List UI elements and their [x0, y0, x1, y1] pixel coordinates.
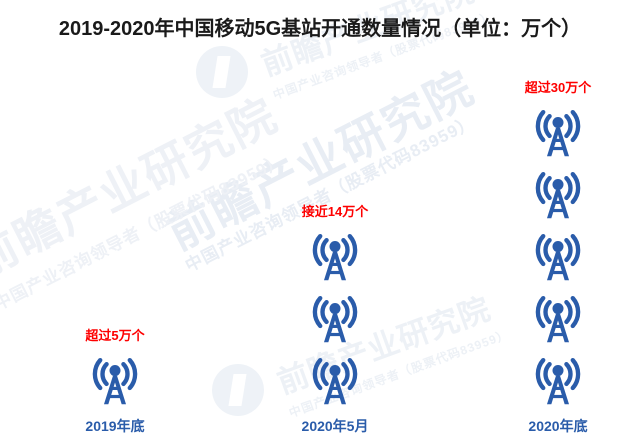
- cell-tower-icon: [306, 290, 364, 348]
- value-label-2020-end: 超过30万个: [525, 81, 591, 94]
- cell-tower-icon: [529, 166, 587, 224]
- icon-stack-2020-05: [306, 228, 364, 414]
- pictogram-chart-page: 前瞻产业研究院 中国产业咨询领导者（股票代码83959） 前瞻产业研究院 中国产…: [0, 0, 640, 447]
- value-label-2019: 超过5万个: [85, 329, 144, 342]
- period-label-2020-05: 2020年5月: [302, 419, 369, 433]
- pictogram-column-2019: 超过5万个 2019年底: [35, 329, 195, 447]
- period-label-2019: 2019年底: [85, 419, 144, 433]
- cell-tower-icon: [529, 228, 587, 286]
- value-label-2020-05: 接近14万个: [302, 205, 368, 218]
- cell-tower-icon: [306, 228, 364, 286]
- cell-tower-icon: [306, 352, 364, 410]
- pictogram-columns: 超过5万个 2019年底: [0, 0, 640, 447]
- cell-tower-icon: [529, 290, 587, 348]
- period-label-2020-end: 2020年底: [528, 419, 587, 433]
- cell-tower-icon: [529, 104, 587, 162]
- cell-tower-icon: [529, 352, 587, 410]
- icon-stack-2020-end: [529, 104, 587, 414]
- cell-tower-icon: [86, 352, 144, 410]
- pictogram-column-2020-end: 超过30万个: [478, 81, 638, 447]
- pictogram-column-2020-05: 接近14万个: [255, 205, 415, 447]
- page-title: 2019-2020年中国移动5G基站开通数量情况（单位：万个）: [0, 12, 640, 41]
- icon-stack-2019: [86, 352, 144, 414]
